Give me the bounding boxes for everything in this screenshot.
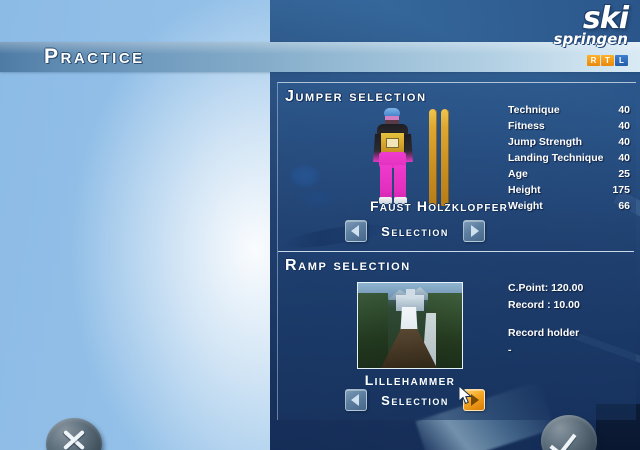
check-icon xyxy=(541,415,597,450)
left-arrow-icon xyxy=(351,225,359,237)
jumper-selection-heading: Jumper selection xyxy=(285,88,427,106)
stat-label: Fitness xyxy=(508,120,545,132)
stat-label: Height xyxy=(508,184,541,196)
stat-value: 25 xyxy=(618,168,630,180)
jumper-selection-label: Selection xyxy=(373,224,457,239)
page-title: Practice xyxy=(44,45,145,69)
rtl-letter-r: R xyxy=(587,55,600,66)
stat-value: 40 xyxy=(618,136,630,148)
record-holder-value: - xyxy=(508,342,632,359)
stat-row: Height 175 xyxy=(508,184,630,200)
record-value: 10.00 xyxy=(554,299,580,311)
stat-label: Age xyxy=(508,168,528,180)
jumper-bib xyxy=(386,138,399,148)
ramp-info-list: C.Point: 120.00 Record : 10.00 Record ho… xyxy=(508,280,632,359)
cancel-button[interactable] xyxy=(46,418,102,450)
jumper-selection-control: Selection xyxy=(345,220,485,242)
stat-value: 40 xyxy=(618,152,630,164)
thumb-trees-left xyxy=(358,293,388,369)
jumper-figure xyxy=(370,108,416,205)
cpoint-label: C.Point: xyxy=(508,282,548,294)
jumper-next-button[interactable] xyxy=(463,220,485,242)
record-holder-label: Record holder xyxy=(508,325,632,342)
stat-row: Landing Technique 40 xyxy=(508,152,630,168)
jumper-prev-button[interactable] xyxy=(345,220,367,242)
spacer xyxy=(508,314,632,325)
x-icon xyxy=(46,418,102,450)
rtl-letter-t: T xyxy=(601,55,614,66)
ramp-next-button[interactable] xyxy=(463,389,485,411)
stat-value: 40 xyxy=(618,104,630,116)
game-logo: ski springen RTL xyxy=(508,6,628,68)
rtl-badge: RTL xyxy=(586,50,628,68)
game-screen: Practice ski springen RTL Jumper selecti… xyxy=(0,0,640,450)
panel-divider xyxy=(278,251,634,252)
record-label: Record : xyxy=(508,299,551,311)
logo-springen-text: springen xyxy=(508,32,628,47)
record-row: Record : 10.00 xyxy=(508,297,632,314)
stat-row: Jump Strength 40 xyxy=(508,136,630,152)
ramp-thumbnail[interactable] xyxy=(357,282,463,369)
skis-graphic xyxy=(428,109,452,206)
stat-row: Age 25 xyxy=(508,168,630,184)
cpoint-row: C.Point: 120.00 xyxy=(508,280,632,297)
jumper-goggles xyxy=(385,116,399,120)
stat-row: Fitness 40 xyxy=(508,120,630,136)
cpoint-value: 120.00 xyxy=(551,282,583,294)
ramp-prev-button[interactable] xyxy=(345,389,367,411)
jumper-right-leg xyxy=(394,165,406,199)
rtl-letter-l: L xyxy=(615,55,628,66)
left-arrow-icon xyxy=(351,394,359,406)
stat-label: Weight xyxy=(508,200,543,212)
stat-label: Technique xyxy=(508,104,560,116)
ramp-selection-label: Selection xyxy=(373,393,457,408)
ski-left xyxy=(429,109,437,206)
jumper-left-leg xyxy=(380,165,392,199)
logo-ski-text: ski xyxy=(508,6,628,32)
ski-right xyxy=(441,109,449,206)
stat-value: 175 xyxy=(612,184,630,196)
thumb-tower xyxy=(406,289,415,299)
jumper-name: Faust Holzklopfer xyxy=(328,198,508,214)
stat-label: Jump Strength xyxy=(508,136,582,148)
confirm-button[interactable] xyxy=(541,415,597,450)
stat-row: Weight 66 xyxy=(508,200,630,216)
ramp-selection-control: Selection xyxy=(345,389,485,411)
right-arrow-icon xyxy=(471,225,479,237)
stat-value: 40 xyxy=(618,120,630,132)
stat-value: 66 xyxy=(618,200,630,212)
ramp-name: Lillehammer xyxy=(330,372,490,388)
stat-row: Technique 40 xyxy=(508,104,630,120)
stat-label: Landing Technique xyxy=(508,152,603,164)
right-arrow-icon xyxy=(471,394,479,406)
ramp-selection-heading: Ramp selection xyxy=(285,257,411,275)
jumper-stats-list: Technique 40 Fitness 40 Jump Strength 40… xyxy=(508,104,630,216)
